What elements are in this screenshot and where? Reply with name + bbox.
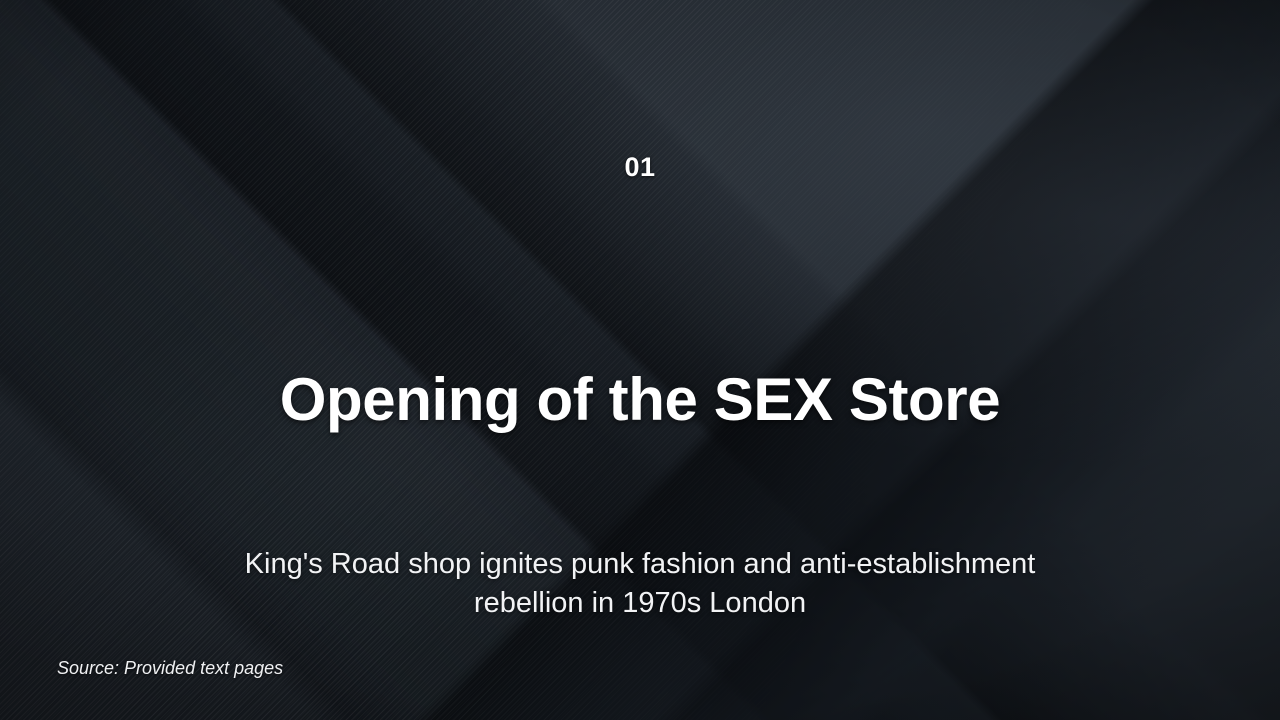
section-number: 01 — [0, 152, 1280, 183]
source-caption: Source: Provided text pages — [57, 658, 283, 679]
slide-content: 01 Opening of the SEX Store King's Road … — [0, 0, 1280, 720]
slide-title: Opening of the SEX Store — [0, 365, 1280, 434]
title-slide: 01 Opening of the SEX Store King's Road … — [0, 0, 1280, 720]
slide-subtitle: King's Road shop ignites punk fashion an… — [190, 545, 1090, 623]
